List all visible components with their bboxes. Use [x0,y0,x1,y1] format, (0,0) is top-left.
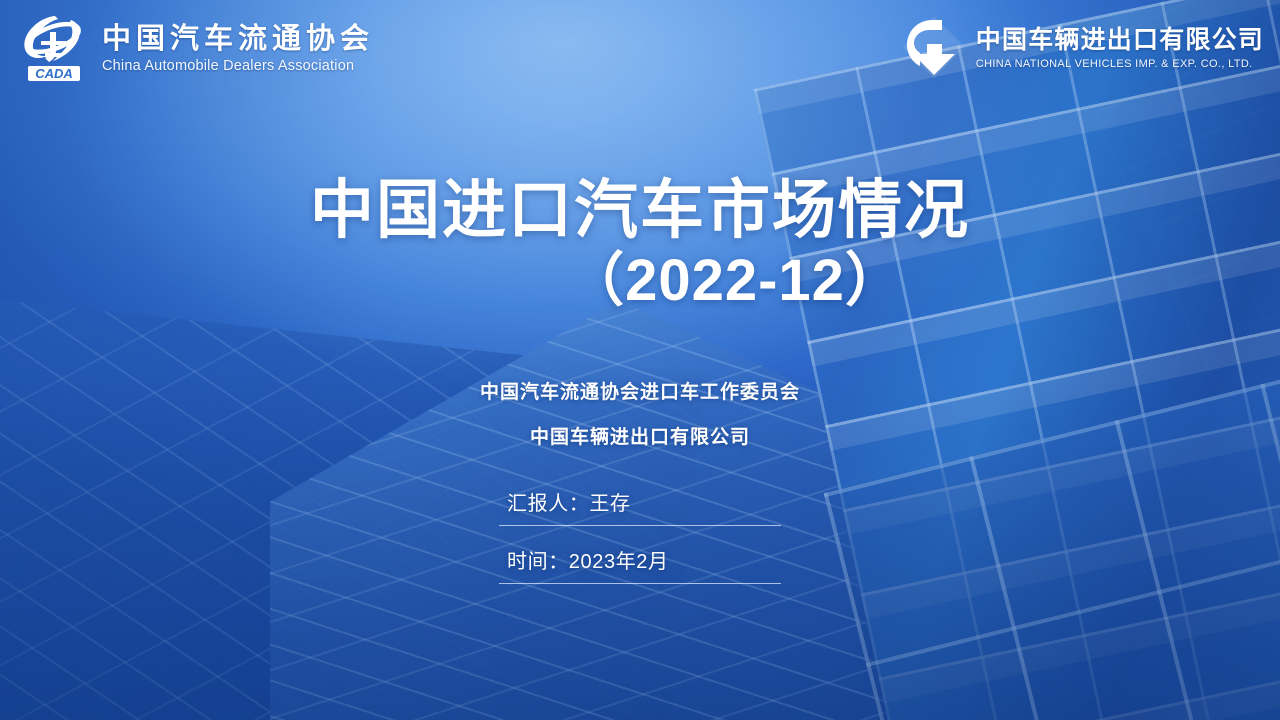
title-slide: CADA 中国汽车流通协会 China Automobile Dealers A… [0,0,1280,720]
cada-wordmark: CADA [35,66,73,81]
logo-cada: CADA 中国汽车流通协会 China Automobile Dealers A… [14,10,374,89]
slide-title-period: （2022-12） [60,250,1220,313]
organization-list: 中国汽车流通协会进口车工作委员会 中国车辆进出口有限公司 [0,383,1280,447]
meta-block: 汇报人：王存 时间：2023年2月 [0,492,1280,584]
cada-text-block: 中国汽车流通协会 China Automobile Dealers Associ… [102,24,374,75]
cnv-cn-name: 中国车辆进出口有限公司 [976,27,1264,55]
background-photo [0,0,1280,720]
cada-cn-name: 中国汽车流通协会 [102,24,374,55]
organization-line: 中国车辆进出口有限公司 [0,428,1280,447]
logo-cnv: 中国车辆进出口有限公司 CHINA NATIONAL VEHICLES IMP.… [901,14,1264,85]
date-text: 时间：2023年2月 [507,551,669,573]
cnv-emblem-icon [901,14,967,85]
cada-en-name: China Automobile Dealers Association [102,57,374,75]
slide-title: 中国进口汽车市场情况 [60,178,1220,244]
cnv-text-block: 中国车辆进出口有限公司 CHINA NATIONAL VEHICLES IMP.… [976,27,1264,71]
date-row: 时间：2023年2月 [499,550,781,584]
building-far-right [1067,0,1280,720]
building-right-glass [754,0,1280,720]
cada-emblem-icon: CADA [14,10,92,89]
presenter-row: 汇报人：王存 [499,492,781,526]
presenter-text: 汇报人：王存 [507,493,631,515]
cnv-en-name: CHINA NATIONAL VEHICLES IMP. & EXP. CO.,… [976,58,1264,72]
background-vignette [0,0,1280,720]
organization-line: 中国汽车流通协会进口车工作委员会 [0,383,1280,402]
title-block: 中国进口汽车市场情况 （2022-12） [0,178,1280,313]
